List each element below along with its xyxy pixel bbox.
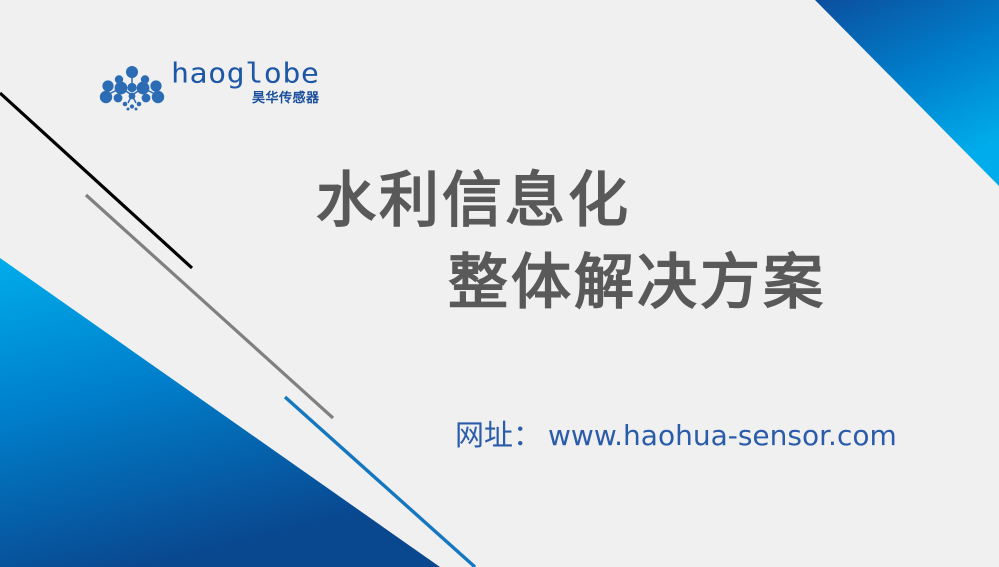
- brand-logo: haoglobe 昊华传感器: [99, 58, 314, 116]
- page-title: 水利信息化 整体解决方案: [300, 160, 900, 324]
- logo-subtitle: 昊华传感器: [252, 91, 320, 106]
- logo-wordmark: haoglobe: [171, 60, 320, 88]
- slide-canvas: haoglobe 昊华传感器 水利信息化 整体解决方案 网址： www.haoh…: [0, 0, 999, 567]
- page-title-line-2: 整体解决方案: [300, 242, 900, 324]
- website-line: 网址： www.haohua-sensor.com: [455, 418, 897, 453]
- page-title-line-1: 水利信息化: [300, 160, 900, 242]
- website-label: 网址：: [455, 418, 542, 452]
- website-url[interactable]: www.haohua-sensor.com: [548, 419, 897, 453]
- network-nodes-icon: [99, 62, 165, 112]
- logo-text-block: haoglobe 昊华传感器: [171, 58, 320, 106]
